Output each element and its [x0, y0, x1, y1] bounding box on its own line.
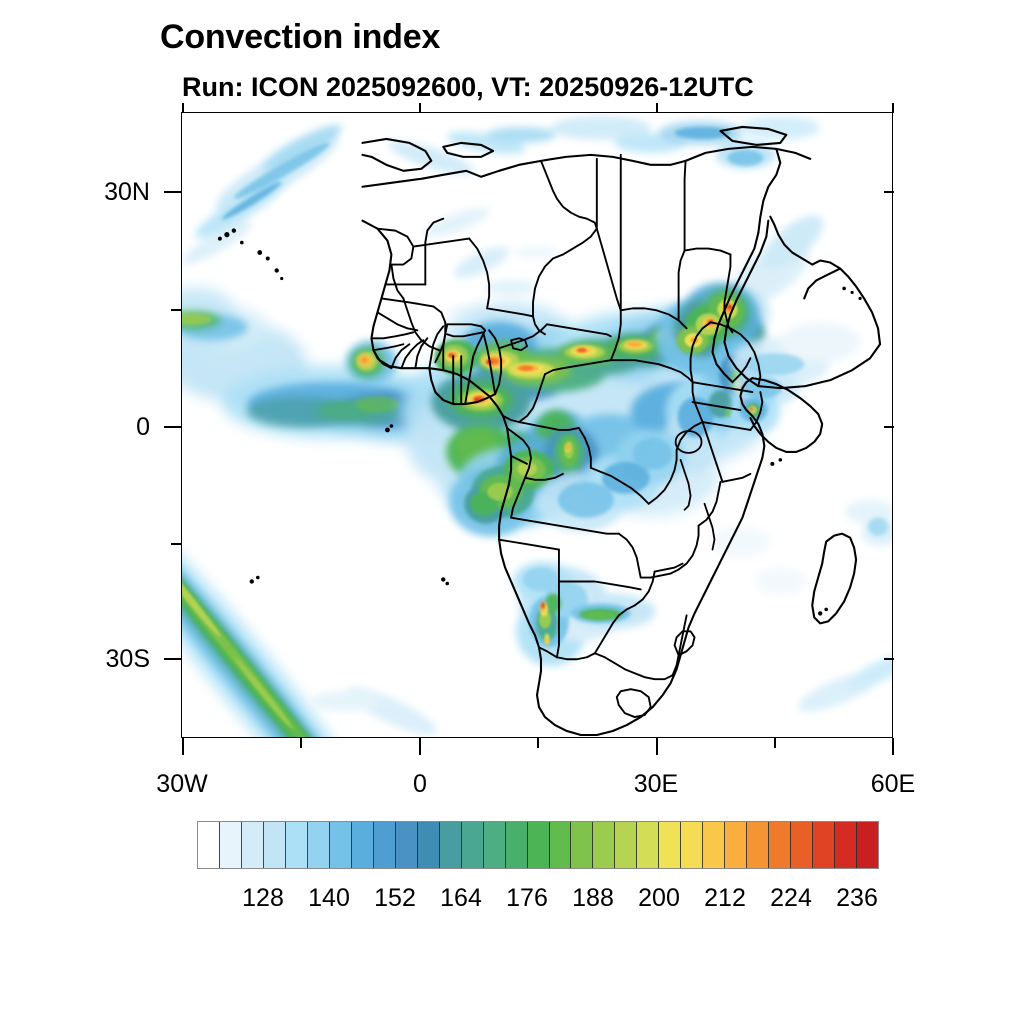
y-tick-right-30s: [884, 658, 894, 660]
x-axis-label-0: 0: [365, 770, 475, 799]
x-tick-30e: [656, 738, 658, 755]
colorbar-cell: [220, 822, 242, 868]
colorbar-tick-label: 188: [572, 884, 614, 913]
colorbar-tick-label: 212: [704, 884, 746, 913]
colorbar-tick-label: 152: [374, 884, 416, 913]
colorbar-cell: [725, 822, 747, 868]
colorbar-cell: [857, 822, 878, 868]
y-tick-30s: [164, 658, 181, 660]
x-tick-30w: [182, 738, 184, 755]
y-tick-right-0: [884, 426, 894, 428]
y-axis-label-0: 0: [40, 413, 150, 442]
x-axis-label-30e: 30E: [601, 770, 711, 799]
colorbar-tick-label: 140: [308, 884, 350, 913]
colorbar-tick-label: 164: [440, 884, 482, 913]
colorbar-cell: [835, 822, 857, 868]
map-plot-area: [181, 112, 893, 738]
colorbar-cell: [571, 822, 593, 868]
colorbar-cell: [506, 822, 528, 868]
colorbar-cell: [286, 822, 308, 868]
colorbar-cell: [637, 822, 659, 868]
colorbar-cell: [791, 822, 813, 868]
x-tick-15w: [300, 738, 302, 748]
colorbar-cell: [703, 822, 725, 868]
page-title: Convection index: [160, 18, 440, 57]
colorbar-cell: [813, 822, 835, 868]
x-tick-top-30w: [182, 103, 184, 113]
colorbar-cell: [330, 822, 352, 868]
colorbar-cell: [308, 822, 330, 868]
colorbar: [197, 821, 879, 869]
y-axis-label-30n: 30N: [40, 178, 150, 207]
x-tick-top-60e: [892, 103, 894, 113]
y-tick-15s: [171, 543, 181, 545]
colorbar-cell: [396, 822, 418, 868]
x-tick-60e: [892, 738, 894, 755]
colorbar-cell: [550, 822, 572, 868]
colorbar-cell: [242, 822, 264, 868]
map-svg: [182, 113, 892, 737]
colorbar-tick-label: 236: [836, 884, 878, 913]
run-valid-time-subtitle: Run: ICON 2025092600, VT: 20250926-12UTC: [182, 72, 754, 103]
x-tick-top-0: [419, 103, 421, 113]
y-axis-label-30s: 30S: [40, 645, 150, 674]
colorbar-cell: [659, 822, 681, 868]
convection-index-figure: Convection index Run: ICON 2025092600, V…: [0, 0, 1024, 1024]
y-tick-0: [164, 426, 181, 428]
x-tick-15e: [537, 738, 539, 748]
colorbar-cell: [374, 822, 396, 868]
y-tick-15n: [171, 309, 181, 311]
x-axis-label-30w: 30W: [127, 770, 237, 799]
colorbar-cell: [615, 822, 637, 868]
x-axis-label-60e: 60E: [838, 770, 948, 799]
x-tick-45e: [774, 738, 776, 748]
y-tick-30n: [164, 191, 181, 193]
colorbar-tick-label: 224: [770, 884, 812, 913]
y-tick-right-30n: [884, 191, 894, 193]
colorbar-cell: [418, 822, 440, 868]
colorbar-cell: [528, 822, 550, 868]
colorbar-cell: [264, 822, 286, 868]
colorbar-cell: [198, 822, 220, 868]
colorbar-tick-label: 128: [242, 884, 284, 913]
colorbar-cell: [462, 822, 484, 868]
x-tick-top-30e: [656, 103, 658, 113]
colorbar-cell: [747, 822, 769, 868]
colorbar-gradient-cells: [197, 821, 879, 869]
colorbar-cell: [484, 822, 506, 868]
colorbar-cell: [352, 822, 374, 868]
colorbar-cell: [681, 822, 703, 868]
x-tick-0: [419, 738, 421, 755]
colorbar-tick-label: 200: [638, 884, 680, 913]
colorbar-tick-label: 176: [506, 884, 548, 913]
colorbar-cell: [769, 822, 791, 868]
colorbar-cell: [593, 822, 615, 868]
colorbar-cell: [440, 822, 462, 868]
